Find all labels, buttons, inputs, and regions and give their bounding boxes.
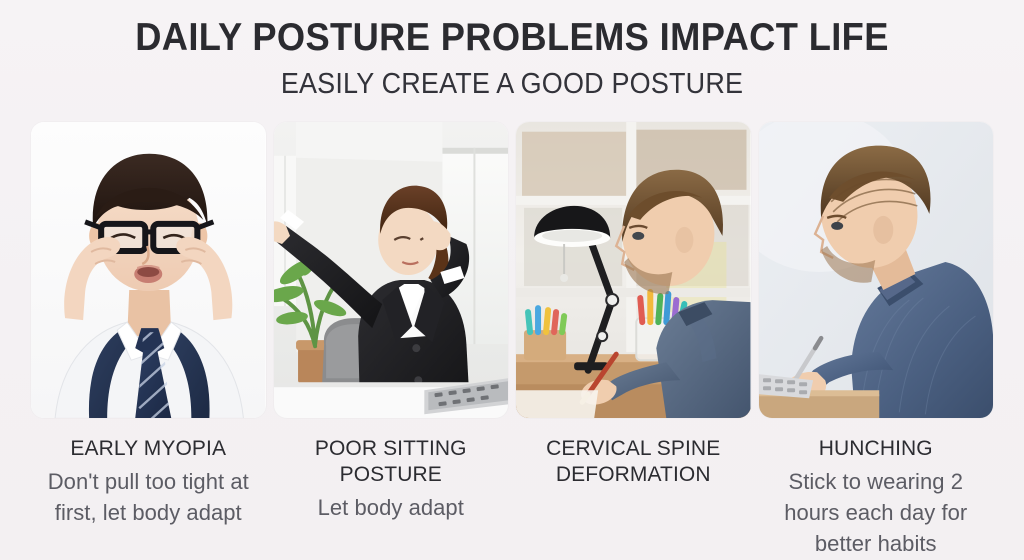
caption-body: Let body adapt [278,492,505,523]
header-block: DAILY POSTURE PROBLEMS IMPACT LIFE EASIL… [0,16,1024,101]
caption-cervical-spine-deformation: CERVICAL SPINE DEFORMATION [516,436,751,560]
poster-page: DAILY POSTURE PROBLEMS IMPACT LIFE EASIL… [0,0,1024,560]
caption-title: HUNCHING [763,436,990,462]
caption-body: Don't pull too tight at first, let body … [35,466,262,528]
woman-stretching-at-desk-photo [274,122,509,418]
image-card-hunching[interactable] [759,122,994,418]
caption-body: Stick to wearing 2 hours each day for be… [763,466,990,559]
caption-hunching: HUNCHING Stick to wearing 2 hours each d… [759,436,994,560]
page-title: DAILY POSTURE PROBLEMS IMPACT LIFE [36,16,988,60]
caption-row: EARLY MYOPIA Don't pull too tight at fir… [31,436,993,560]
caption-poor-sitting-posture: POOR SITTING POSTURE Let body adapt [274,436,509,560]
caption-title: CERVICAL SPINE DEFORMATION [520,436,747,488]
image-card-early-myopia[interactable] [31,122,266,418]
image-card-grid [31,122,993,418]
image-card-cervical-spine-deformation[interactable] [516,122,751,418]
caption-title: EARLY MYOPIA [35,436,262,462]
page-subtitle: EASILY CREATE A GOOD POSTURE [36,67,988,101]
man-hunching-over-desk-photo [759,122,994,418]
man-writing-under-lamp-photo [516,122,751,418]
boy-adjusting-glasses-photo [31,122,266,418]
image-card-poor-sitting-posture[interactable] [274,122,509,418]
caption-early-myopia: EARLY MYOPIA Don't pull too tight at fir… [31,436,266,560]
caption-title: POOR SITTING POSTURE [278,436,505,488]
